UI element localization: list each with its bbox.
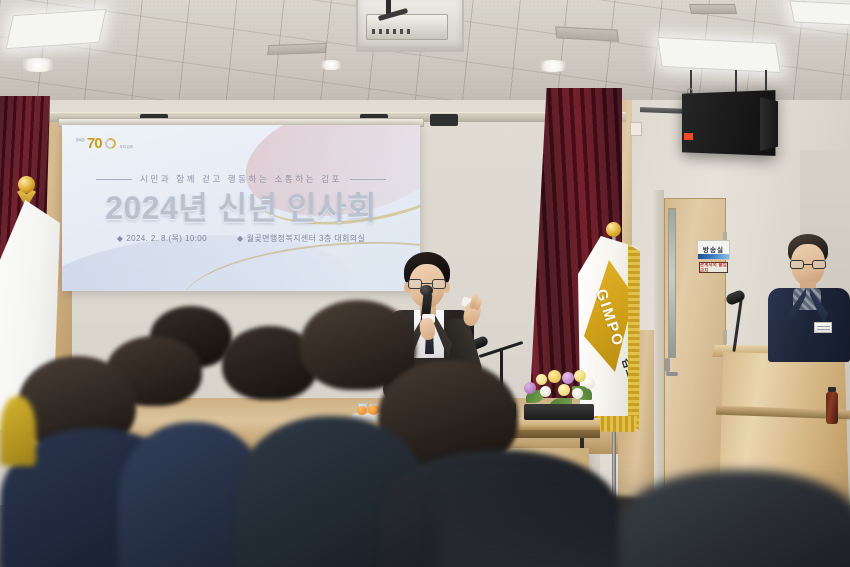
screen-title: 2024년 신년 인사회 xyxy=(62,183,420,229)
ceiling-downlight xyxy=(18,58,58,72)
audience-body xyxy=(0,396,36,466)
microphone-head-icon xyxy=(420,285,433,296)
ceiling-downlight xyxy=(318,60,344,70)
projection-screen: 행복한 70 우리 김포 시민과 함께 걷고 행동하는 소통하는 김포 2024… xyxy=(62,125,420,291)
badge-text-line xyxy=(817,326,830,327)
audience-body xyxy=(620,470,850,567)
broadcast-sign-ko: 방송실 xyxy=(703,244,724,254)
tagline-rule-right xyxy=(350,179,386,180)
speaker-brand-badge xyxy=(684,133,693,140)
broadcast-room-sign: 방송실 Broadcasting Room xyxy=(697,240,730,260)
door-jamb xyxy=(654,190,664,502)
restricted-sign-text: 관계자외 출입금지 xyxy=(700,262,727,274)
logo-ring-icon xyxy=(103,136,118,151)
door-vision-panel xyxy=(668,208,676,358)
screen-footer-datetime: ◆2024. 2. 8.(목) 10:00 xyxy=(117,233,207,244)
screen-location-text: 월곶면행정복지센터 3층 대회의실 xyxy=(247,234,366,243)
presenter-name-badge xyxy=(814,322,832,333)
door-hinge xyxy=(723,330,727,344)
ceiling-vent xyxy=(689,4,737,14)
screen-footer: ◆2024. 2. 8.(목) 10:00 ◆월곶면행정복지센터 3층 대회의실 xyxy=(62,233,420,244)
projector-ports xyxy=(372,29,412,34)
anniversary-70-logo: 행복한 70 우리 김포 xyxy=(76,135,133,152)
ceiling-speaker-side xyxy=(760,97,778,151)
bottle-cap xyxy=(828,387,836,392)
ceiling-downlight xyxy=(536,60,570,72)
diamond-icon: ◆ xyxy=(237,234,244,243)
flag-finial-ball xyxy=(18,176,35,193)
ceiling-light-panel xyxy=(657,37,781,73)
logo-number: 70 xyxy=(87,135,102,152)
door-handle[interactable] xyxy=(665,358,670,372)
door-lever-icon[interactable] xyxy=(666,372,678,376)
ceiling-light-panel xyxy=(6,9,107,49)
glasses-lens xyxy=(432,279,446,289)
badge-text-line xyxy=(817,329,830,330)
ceiling-vent xyxy=(267,43,327,55)
sign-color-bar xyxy=(698,254,729,259)
presenter-glasses-icon xyxy=(790,260,826,269)
screen-footer-location: ◆월곶면행정복지센터 3층 대회의실 xyxy=(237,233,365,244)
restricted-access-sign: 관계자외 출입금지 xyxy=(699,262,728,273)
glasses-bridge xyxy=(804,264,812,265)
glasses-lens xyxy=(812,260,826,269)
glasses-bridge xyxy=(422,283,432,284)
logo-side-text: 우리 김포 xyxy=(120,144,133,149)
glasses-lens xyxy=(790,260,804,269)
speaker-wire xyxy=(735,70,737,94)
tagline-rule-left xyxy=(96,179,132,180)
conference-photo: 행복한 70 우리 김포 시민과 함께 걷고 행동하는 소통하는 김포 2024… xyxy=(0,0,850,567)
beverage-bottle xyxy=(826,392,838,424)
ceiling-light-panel xyxy=(789,0,850,25)
wall-junction-box xyxy=(630,122,642,136)
diamond-icon: ◆ xyxy=(117,234,124,243)
logo-top-text: 행복한 xyxy=(76,139,85,142)
rail-clip xyxy=(430,114,458,126)
screen-datetime-text: 2024. 2. 8.(목) 10:00 xyxy=(126,234,207,243)
gimpo-flag-finial xyxy=(606,222,621,237)
podium-presenter xyxy=(766,234,850,362)
